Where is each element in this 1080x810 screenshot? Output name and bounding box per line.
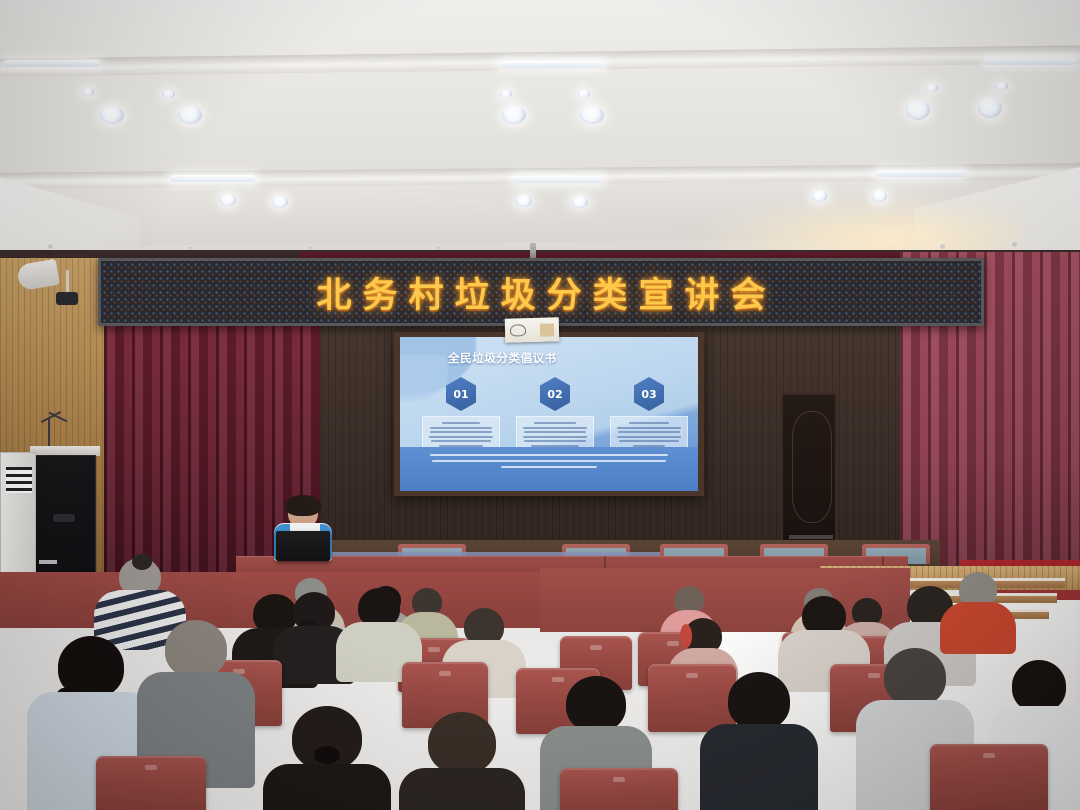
ceiling-downlight [500,90,512,98]
auditorium-seat[interactable] [930,744,1048,810]
presentation-slide: 全民垃圾分类倡议书 01 02 [400,337,698,491]
presenter-hair [285,495,321,516]
person-body [399,768,525,810]
presenter-laptop [276,531,330,561]
person-head [728,672,790,730]
text-line [442,422,480,424]
rack-label [39,560,57,564]
rack-handle[interactable] [53,514,75,522]
text-line [617,436,681,438]
audience-member [940,572,1016,644]
led-banner: 北务村垃圾分类宣讲会 [98,258,984,326]
projection-screen: 全民垃圾分类倡议书 01 02 [394,332,704,496]
ceiling-downlight [812,190,827,202]
audience-member [700,672,818,810]
text-line [524,440,585,442]
sign-doodle [510,324,526,336]
person-body [700,724,818,810]
ceiling-slot-light [984,58,1076,65]
auditorium-seat[interactable] [96,756,206,810]
microphone-stand [48,418,50,448]
text-line [534,422,576,424]
person-head [428,712,496,774]
slide-section-hexagon: 01 [446,377,476,411]
ceiling-downlight [178,106,202,124]
person-head [1012,660,1066,712]
paper-sign-above-screen [505,317,560,342]
text-line [432,460,665,462]
ceiling-downlight [578,90,590,98]
text-line [619,440,680,442]
text-line [430,454,668,456]
security-camera [56,292,78,305]
slide-footer [400,447,698,491]
ceiling-downlight [220,194,236,206]
ceiling-downlight [572,196,588,208]
audience-member [262,706,392,810]
ceiling-downlight [516,195,532,207]
ceiling-slot-light [876,170,966,177]
ceiling-downlight [162,90,175,98]
sign-stamp [540,323,554,336]
text-line [523,427,587,429]
person-head [566,676,626,732]
hair-tie [680,624,692,648]
ceiling-downlight [978,98,1002,118]
ceiling-downlight [872,190,887,202]
text-line [430,431,491,433]
audience-member [398,712,526,810]
ceiling-downlight [272,196,288,208]
ceiling-downlight [502,106,526,124]
ceiling-slot-light [4,60,100,67]
ceiling-pin-light [48,244,53,249]
ceiling-pin-light [1012,242,1017,247]
hair-bun [132,554,152,570]
ceiling-downlight [100,106,124,124]
led-banner-text: 北务村垃圾分类宣讲会 [305,267,776,318]
text-line [430,427,493,429]
ceiling-downlight [82,88,94,96]
text-line [617,427,680,429]
ceiling-downlight [580,106,604,124]
slide-section-hexagon: 02 [540,377,570,411]
person-head [165,620,227,678]
auditorium-photo: 北务村垃圾分类宣讲会 全民垃圾分类倡议书 01 [0,0,1080,810]
slide-section-hexagon: 03 [634,377,664,411]
text-line [524,431,585,433]
stage-door[interactable] [781,393,837,545]
text-line [429,436,493,438]
camera-mount-pole [66,270,69,294]
person-head [884,648,946,706]
ceiling-downlight [995,82,1008,90]
person-body [263,764,391,810]
slide-title: 全民垃圾分类倡议书 [448,350,557,366]
hair-bun [314,746,340,764]
person-body [940,602,1016,654]
ceiling [0,0,1080,262]
ceiling-slot-light [512,176,604,183]
text-line [431,440,491,442]
text-line [523,436,586,438]
text-line [501,466,596,468]
ceiling-downlight [906,100,930,120]
ceiling-slot-light [500,61,604,68]
cabinet-switch-bank[interactable] [6,467,32,493]
ceiling-slot-light [170,175,256,182]
text-line [618,431,680,433]
auditorium-seat[interactable] [560,768,678,810]
ceiling-downlight [925,84,938,92]
text-line [629,422,668,424]
ceiling-pin-light [940,244,945,249]
